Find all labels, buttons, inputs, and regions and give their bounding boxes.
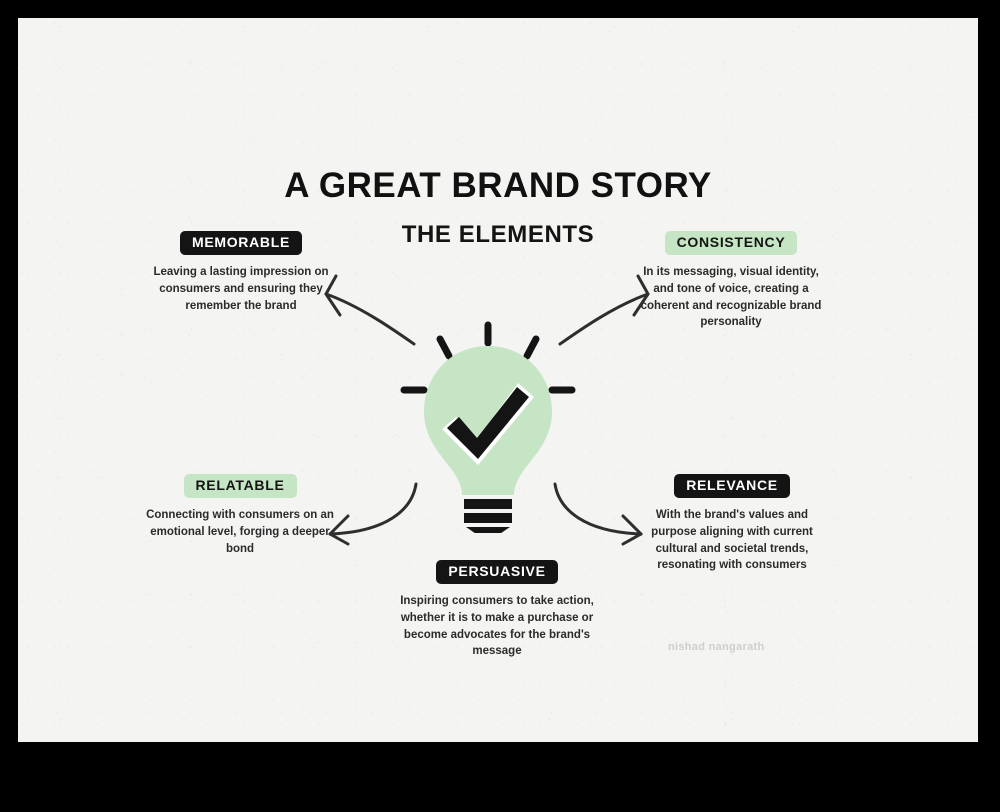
element-description-memorable: Leaving a lasting impression on consumer… — [146, 264, 336, 314]
arrow-to-memorable — [310, 270, 420, 355]
poster-canvas: A GREAT BRAND STORY THE ELEMENTS MEMORAB… — [18, 18, 978, 742]
element-block-relevance: RELEVANCE With the brand's values and pu… — [636, 474, 828, 574]
arrow-to-relevance — [548, 478, 663, 553]
lightbulb-base — [464, 499, 512, 533]
element-badge-consistency: CONSISTENCY — [665, 231, 798, 255]
page-title: A GREAT BRAND STORY — [18, 166, 978, 206]
element-block-memorable: MEMORABLE Leaving a lasting impression o… — [146, 231, 336, 314]
element-description-relevance: With the brand's values and purpose alig… — [636, 507, 828, 574]
arrow-to-consistency — [554, 270, 664, 355]
element-description-persuasive: Inspiring consumers to take action, whet… — [398, 593, 596, 660]
element-block-consistency: CONSISTENCY In its messaging, visual ide… — [636, 231, 826, 331]
element-badge-relatable: RELATABLE — [184, 474, 297, 498]
element-block-relatable: RELATABLE Connecting with consumers on a… — [146, 474, 334, 557]
element-description-relatable: Connecting with consumers on an emotiona… — [146, 507, 334, 557]
element-badge-relevance: RELEVANCE — [674, 474, 790, 498]
element-badge-persuasive: PERSUASIVE — [436, 560, 557, 584]
arrow-to-relatable — [308, 478, 423, 553]
element-description-consistency: In its messaging, visual identity, and t… — [636, 264, 826, 331]
poster-frame: A GREAT BRAND STORY THE ELEMENTS MEMORAB… — [0, 0, 1000, 812]
element-block-persuasive: PERSUASIVE Inspiring consumers to take a… — [398, 560, 596, 660]
watermark: nishad nangarath — [668, 641, 764, 653]
element-badge-memorable: MEMORABLE — [180, 231, 302, 255]
lightbulb-glass — [424, 346, 552, 495]
